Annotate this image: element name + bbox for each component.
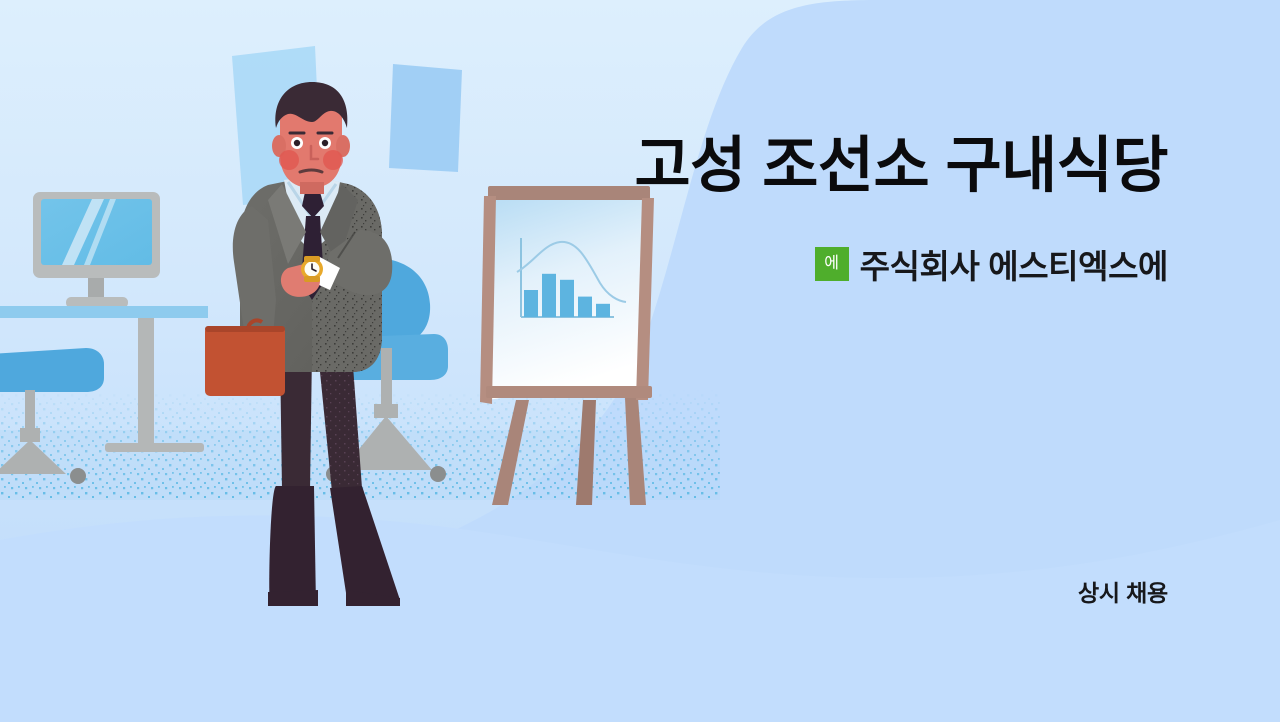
chair-post: [25, 390, 35, 432]
desk-foot: [105, 443, 204, 452]
briefcase: [205, 326, 285, 396]
easel-crossbar: [486, 386, 652, 398]
chart-bar-3: [560, 280, 574, 317]
desk-leg: [138, 318, 154, 445]
shoe-left: [269, 486, 316, 606]
chart-bar-5: [596, 304, 610, 317]
briefcase-top-edge: [205, 326, 285, 332]
chart-bar-1: [524, 290, 538, 317]
chair-wheel: [70, 468, 86, 484]
job-posting-banner: 고성 조선소 구내식당 에 주식회사 에스티엑스에 상시 채용: [0, 0, 1280, 722]
wristwatch-strap-bottom: [304, 276, 320, 282]
company-row: 에 주식회사 에스티엑스에: [815, 240, 1168, 288]
chart-bar-4: [578, 297, 592, 317]
chart-bar-2: [542, 274, 556, 317]
status-badge: 상시 채용: [1078, 574, 1168, 608]
page-title: 고성 조선소 구내식당: [0, 133, 1168, 199]
company-badge-icon: 에: [815, 247, 849, 281]
monitor-neck: [88, 278, 104, 300]
illustration-canvas: [0, 0, 1280, 722]
wristwatch-strap-top: [304, 256, 320, 262]
chair-hub: [20, 428, 40, 442]
company-name: 주식회사 에스티엑스에: [860, 240, 1168, 288]
desk-top: [0, 306, 208, 318]
